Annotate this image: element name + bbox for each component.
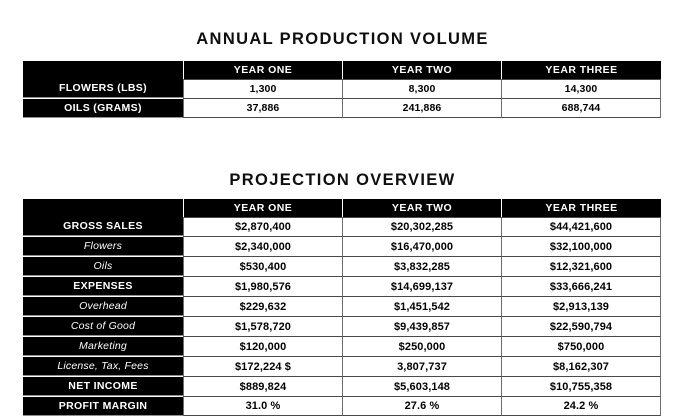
table-1-head: YEAR ONE YEAR TWO YEAR THREE: [23, 61, 661, 79]
table-row: EXPENSES $1,980,576 $14,699,137 $33,666,…: [23, 276, 661, 296]
cell-marketing-year-three: $750,000: [501, 336, 661, 356]
row-label-cost-of-good: Cost of Good: [23, 316, 183, 336]
table-row: Flowers $2,340,000 $16,470,000 $32,100,0…: [23, 236, 661, 256]
row-label-marketing: Marketing: [23, 336, 183, 356]
cell-flowers-year-one: $2,340,000: [183, 236, 342, 256]
table-row: OILS (GRAMS) 37,886 241,886 688,744: [23, 98, 661, 118]
table-row: GROSS SALES $2,870,400 $20,302,285 $44,4…: [23, 217, 661, 236]
cell-net-income-year-three: $10,755,358: [501, 376, 661, 396]
cell-profit-margin-year-three: 24.2 %: [501, 396, 661, 416]
cell-oils-grams-year-two: 241,886: [342, 98, 501, 118]
table-2-header-row: YEAR ONE YEAR TWO YEAR THREE: [23, 199, 661, 217]
cell-cost-of-good-year-one: $1,578,720: [183, 316, 342, 336]
section-title-wrapper-1: ANNUAL PRODUCTION VOLUME: [0, 20, 685, 58]
row-label-flowers: Flowers: [23, 236, 183, 256]
cell-gross-sales-year-two: $20,302,285: [342, 217, 501, 236]
table-2-body: GROSS SALES $2,870,400 $20,302,285 $44,4…: [23, 217, 661, 416]
row-label-overhead: Overhead: [23, 296, 183, 316]
table-row: NET INCOME $889,824 $5,603,148 $10,755,3…: [23, 376, 661, 396]
cell-overhead-year-one: $229,632: [183, 296, 342, 316]
cell-overhead-year-three: $2,913,139: [501, 296, 661, 316]
table-row: FLOWERS (LBS) 1,300 8,300 14,300: [23, 79, 661, 98]
row-label-oils: Oils: [23, 256, 183, 276]
annual-production-volume-table: YEAR ONE YEAR TWO YEAR THREE FLOWERS (LB…: [23, 61, 661, 118]
cell-expenses-year-one: $1,980,576: [183, 276, 342, 296]
cell-flowers-year-three: $32,100,000: [501, 236, 661, 256]
row-label-expenses: EXPENSES: [23, 276, 183, 296]
cell-flowers-lbs-year-two: 8,300: [342, 79, 501, 98]
table-2-corner-cell: [23, 199, 183, 217]
table-1-column-year-two: YEAR TWO: [342, 61, 501, 79]
table-row: License, Tax, Fees $172,224 $ 3,807,737 …: [23, 356, 661, 376]
table-1-corner-cell: [23, 61, 183, 79]
cell-oils-year-two: $3,832,285: [342, 256, 501, 276]
table-1-column-year-three: YEAR THREE: [501, 61, 661, 79]
row-label-oils-grams: OILS (GRAMS): [23, 98, 183, 118]
cell-license-tax-fees-year-one: $172,224 $: [183, 356, 342, 376]
row-label-net-income: NET INCOME: [23, 376, 183, 396]
row-label-profit-margin: PROFIT MARGIN: [23, 396, 183, 416]
cell-gross-sales-year-three: $44,421,600: [501, 217, 661, 236]
table-row: Cost of Good $1,578,720 $9,439,857 $22,5…: [23, 316, 661, 336]
cell-net-income-year-two: $5,603,148: [342, 376, 501, 396]
cell-gross-sales-year-one: $2,870,400: [183, 217, 342, 236]
table-1-header-row: YEAR ONE YEAR TWO YEAR THREE: [23, 61, 661, 79]
projection-overview-title: PROJECTION OVERVIEW: [229, 171, 455, 190]
row-label-flowers-lbs: FLOWERS (LBS): [23, 79, 183, 98]
cell-cost-of-good-year-three: $22,590,794: [501, 316, 661, 336]
cell-expenses-year-three: $33,666,241: [501, 276, 661, 296]
cell-net-income-year-one: $889,824: [183, 376, 342, 396]
table-2-column-year-two: YEAR TWO: [342, 199, 501, 217]
section-spacer: [0, 118, 685, 164]
top-spacer: [0, 0, 685, 20]
cell-flowers-lbs-year-three: 14,300: [501, 79, 661, 98]
cell-profit-margin-year-two: 27.6 %: [342, 396, 501, 416]
cell-marketing-year-one: $120,000: [183, 336, 342, 356]
section-title-wrapper-2: PROJECTION OVERVIEW: [0, 164, 685, 196]
cell-license-tax-fees-year-three: $8,162,307: [501, 356, 661, 376]
document-page: ANNUAL PRODUCTION VOLUME YEAR ONE YEAR T…: [0, 0, 685, 412]
table-1-body: FLOWERS (LBS) 1,300 8,300 14,300 OILS (G…: [23, 79, 661, 118]
cell-overhead-year-two: $1,451,542: [342, 296, 501, 316]
row-label-gross-sales: GROSS SALES: [23, 217, 183, 236]
cell-profit-margin-year-one: 31.0 %: [183, 396, 342, 416]
cell-expenses-year-two: $14,699,137: [342, 276, 501, 296]
cell-license-tax-fees-year-two: 3,807,737: [342, 356, 501, 376]
table-row: Marketing $120,000 $250,000 $750,000: [23, 336, 661, 356]
row-label-license-tax-fees: License, Tax, Fees: [23, 356, 183, 376]
cell-oils-grams-year-three: 688,744: [501, 98, 661, 118]
table-2-head: YEAR ONE YEAR TWO YEAR THREE: [23, 199, 661, 217]
cell-oils-year-three: $12,321,600: [501, 256, 661, 276]
table-row: PROFIT MARGIN 31.0 % 27.6 % 24.2 %: [23, 396, 661, 416]
table-2-column-year-three: YEAR THREE: [501, 199, 661, 217]
cell-marketing-year-two: $250,000: [342, 336, 501, 356]
cell-cost-of-good-year-two: $9,439,857: [342, 316, 501, 336]
cell-flowers-year-two: $16,470,000: [342, 236, 501, 256]
cell-flowers-lbs-year-one: 1,300: [183, 79, 342, 98]
table-1-column-year-one: YEAR ONE: [183, 61, 342, 79]
table-row: Oils $530,400 $3,832,285 $12,321,600: [23, 256, 661, 276]
cell-oils-year-one: $530,400: [183, 256, 342, 276]
annual-production-volume-title: ANNUAL PRODUCTION VOLUME: [196, 30, 488, 49]
projection-overview-table: YEAR ONE YEAR TWO YEAR THREE GROSS SALES…: [23, 199, 661, 416]
table-2-column-year-one: YEAR ONE: [183, 199, 342, 217]
cell-oils-grams-year-one: 37,886: [183, 98, 342, 118]
table-row: Overhead $229,632 $1,451,542 $2,913,139: [23, 296, 661, 316]
